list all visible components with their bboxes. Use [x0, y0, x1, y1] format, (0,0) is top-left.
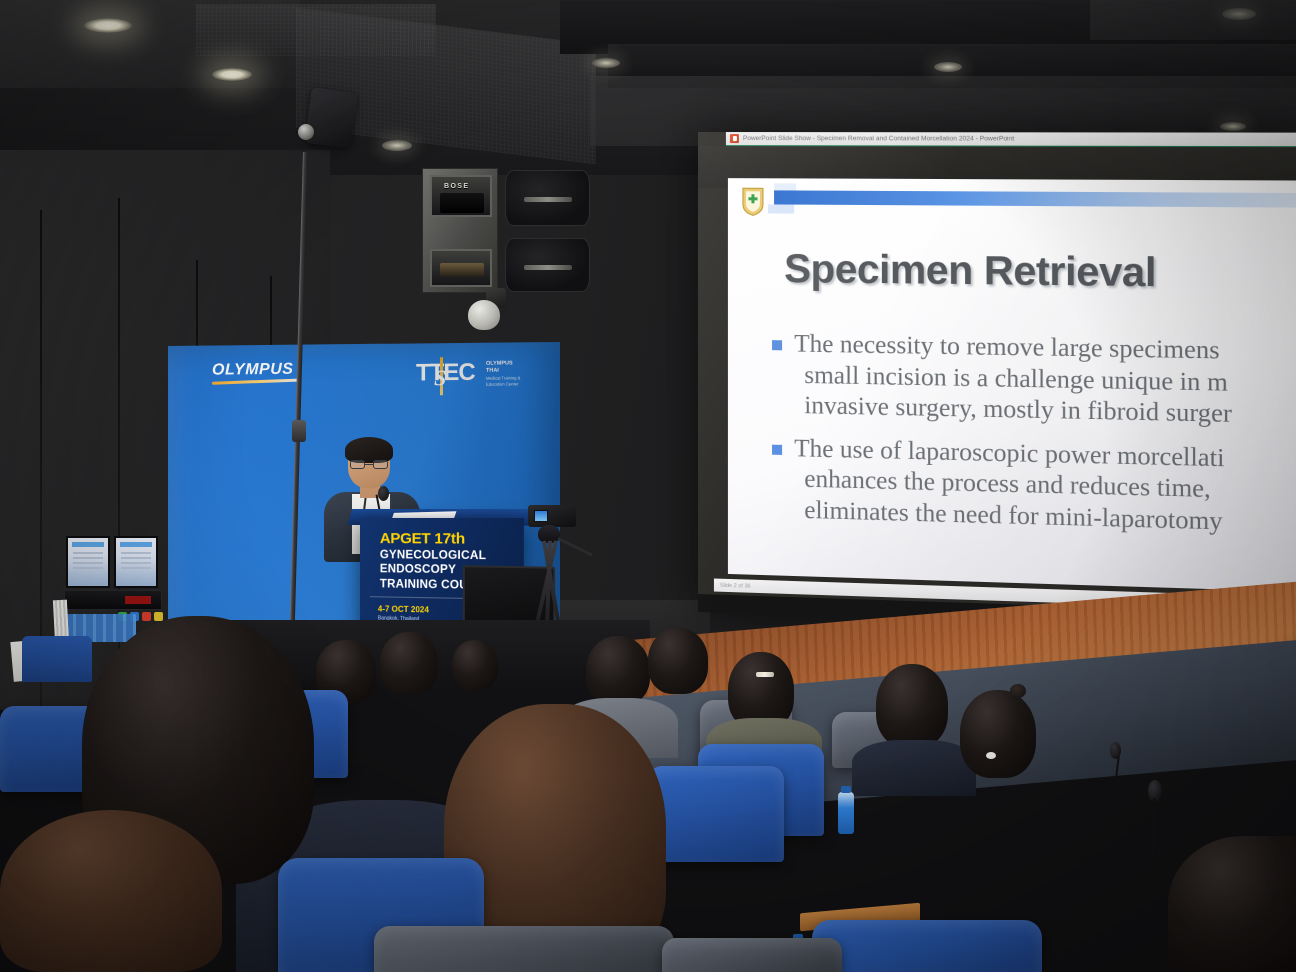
slide-title: Specimen Retrieval	[784, 247, 1156, 297]
seat	[648, 766, 784, 862]
audience-shoulders	[852, 740, 976, 796]
wall-speaker-upper	[505, 170, 590, 226]
water-bottle	[838, 792, 854, 834]
institution-crest-icon	[740, 186, 766, 216]
audience-head	[648, 628, 708, 694]
bose-speaker-stack: BOSE	[422, 168, 498, 293]
stand-camera-head	[304, 87, 357, 149]
audience-head	[586, 636, 650, 706]
ttec-logo-letters: TTEC	[416, 359, 475, 388]
ttec-rod-icon	[440, 357, 443, 395]
audience-microphone	[1110, 742, 1122, 834]
slide-header-bar	[774, 190, 1296, 207]
av-mixer-panel[interactable]	[64, 590, 162, 610]
slide-bullet-item: The use of laparoscopic power morcellati…	[772, 433, 1296, 543]
seat	[374, 926, 674, 972]
slide-bullet-item: The necessity to remove large specimens …	[772, 329, 1296, 434]
hair-clip	[756, 672, 774, 677]
powerpoint-taskbar: PowerPoint Slide Show - Specimen Removal…	[726, 132, 1296, 147]
slide-surface: Specimen Retrieval The necessity to remo…	[728, 178, 1296, 592]
slide-counter-label: Slide 2 of 36	[720, 582, 751, 589]
audience-microphone	[1148, 780, 1162, 910]
hair-tie	[986, 752, 996, 759]
powerpoint-icon	[730, 134, 739, 143]
foreground-audience-head	[1168, 836, 1296, 972]
hair-bun	[1010, 684, 1026, 698]
square-bullet-icon	[772, 340, 782, 350]
ttec-sub-line3: Medical Training &	[486, 375, 520, 381]
ttec-logo: TTEC S OLYMPUS THAI Medical Training & E…	[416, 356, 531, 399]
audience-head	[380, 632, 438, 694]
slide-body: The necessity to remove large specimens …	[772, 329, 1296, 555]
ttec-sub-olympus: OLYMPUS	[486, 360, 520, 368]
powerpoint-taskbar-label: PowerPoint Slide Show - Specimen Removal…	[743, 135, 1014, 142]
ttec-sub-thai: THAI	[486, 368, 520, 376]
av-monitor-right[interactable]	[114, 536, 158, 588]
wall-speaker-lower	[505, 238, 590, 292]
lectern-event-name: APGET 17th	[380, 530, 465, 548]
security-camera-icon	[466, 288, 508, 332]
side-chair	[22, 636, 92, 682]
lectern-line-1: GYNECOLOGICAL	[380, 548, 493, 564]
lectern-date: 4-7 OCT 2024	[378, 604, 429, 614]
av-monitor-left[interactable]	[66, 536, 110, 588]
bullet-line: invasive surgery, mostly in fibroid surg…	[794, 391, 1232, 431]
auditorium-scene: BOSE PowerPoint Slide Show - Specimen Re…	[0, 0, 1296, 972]
audience-head	[960, 690, 1036, 778]
seat	[662, 938, 842, 972]
stand-knob	[298, 124, 314, 140]
audience-head	[876, 664, 948, 748]
projection-screen: PowerPoint Slide Show - Specimen Removal…	[698, 132, 1296, 633]
camera-light-stand	[270, 90, 360, 650]
ttec-snake-icon: S	[434, 365, 446, 391]
tripod-pan-handle	[557, 537, 592, 556]
square-bullet-icon	[772, 444, 782, 454]
audience-head	[452, 640, 498, 690]
bose-brand-label: BOSE	[444, 183, 469, 190]
foreground-audience-head	[0, 810, 222, 972]
video-camera-body	[528, 505, 576, 527]
ttec-sub-line4: Education Center	[486, 381, 520, 387]
camera-lcd-screen	[534, 510, 548, 522]
slide-accent-block-b	[768, 204, 794, 213]
seat	[812, 920, 1042, 972]
